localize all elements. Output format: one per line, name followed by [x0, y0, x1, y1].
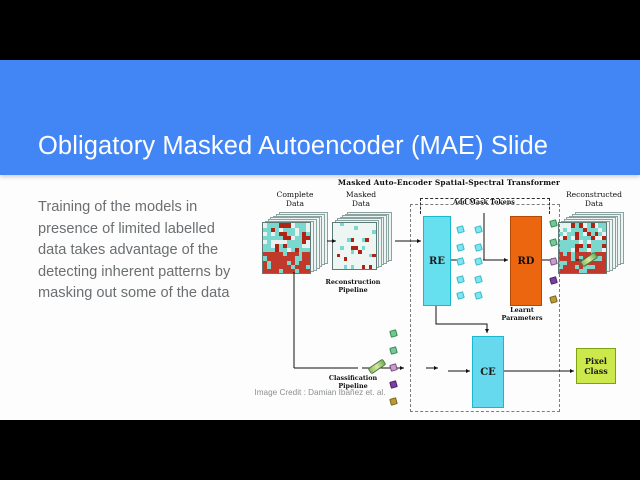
- slide-body-text: Training of the models in presence of li…: [38, 197, 246, 305]
- label-complete-line2: Data: [264, 199, 326, 208]
- page-title: Obligatory Masked Autoencoder (MAE) Slid…: [38, 132, 548, 161]
- letterbox-top: [0, 0, 640, 60]
- token-square: [389, 329, 398, 338]
- token-square: [389, 397, 398, 406]
- reconstruction-encoder-block: RE: [423, 216, 451, 306]
- slide-header-banner: Obligatory Masked Autoencoder (MAE) Slid…: [0, 60, 640, 175]
- caption-recon-line1: Reconstruction: [320, 278, 386, 286]
- figure-title: Masked Auto-Encoder Spatial-Spectral Tra…: [258, 178, 640, 187]
- caption-recon-line2: Pipeline: [320, 286, 386, 294]
- caption-learnt-line2: Parameters: [496, 314, 548, 322]
- reconstruction-decoder-block: RD: [510, 216, 542, 306]
- token-square: [389, 346, 398, 355]
- label-recon-line1: Reconstructed: [554, 190, 634, 199]
- caption-learnt-parameters: Learnt Parameters: [496, 306, 548, 322]
- label-recon-line2: Data: [554, 199, 634, 208]
- pixel-class-line2: Class: [584, 366, 608, 376]
- label-complete-data: Complete Data: [264, 190, 326, 208]
- caption-learnt-line1: Learnt: [496, 306, 548, 314]
- video-frame: Obligatory Masked Autoencoder (MAE) Slid…: [0, 0, 640, 480]
- mae-architecture-figure: Masked Auto-Encoder Spatial-Spectral Tra…: [258, 178, 640, 420]
- add-mask-tokens-label: Add Mask Tokens: [420, 199, 548, 206]
- label-complete-line1: Complete: [264, 190, 326, 199]
- presentation-slide: Obligatory Masked Autoencoder (MAE) Slid…: [0, 60, 640, 420]
- pixel-class-line1: Pixel: [585, 356, 607, 366]
- label-masked-line1: Masked: [334, 190, 388, 199]
- classification-encoder-block: CE: [472, 336, 504, 408]
- label-reconstructed-data: Reconstructed Data: [554, 190, 634, 208]
- caption-reconstruction-pipeline: Reconstruction Pipeline: [320, 278, 386, 294]
- caption-class-line1: Classification: [320, 374, 386, 382]
- letterbox-bottom: [0, 420, 640, 480]
- pixel-vector-glyph: [368, 359, 387, 375]
- token-square: [389, 363, 398, 372]
- label-masked-line2: Data: [334, 199, 388, 208]
- label-masked-data: Masked Data: [334, 190, 388, 208]
- masked-data-cube: [332, 210, 390, 268]
- complete-data-cube: [262, 210, 326, 272]
- pixel-class-output-block: Pixel Class: [576, 348, 616, 384]
- image-credit: Image Credit : Damian Ibañez et. al.: [0, 388, 640, 397]
